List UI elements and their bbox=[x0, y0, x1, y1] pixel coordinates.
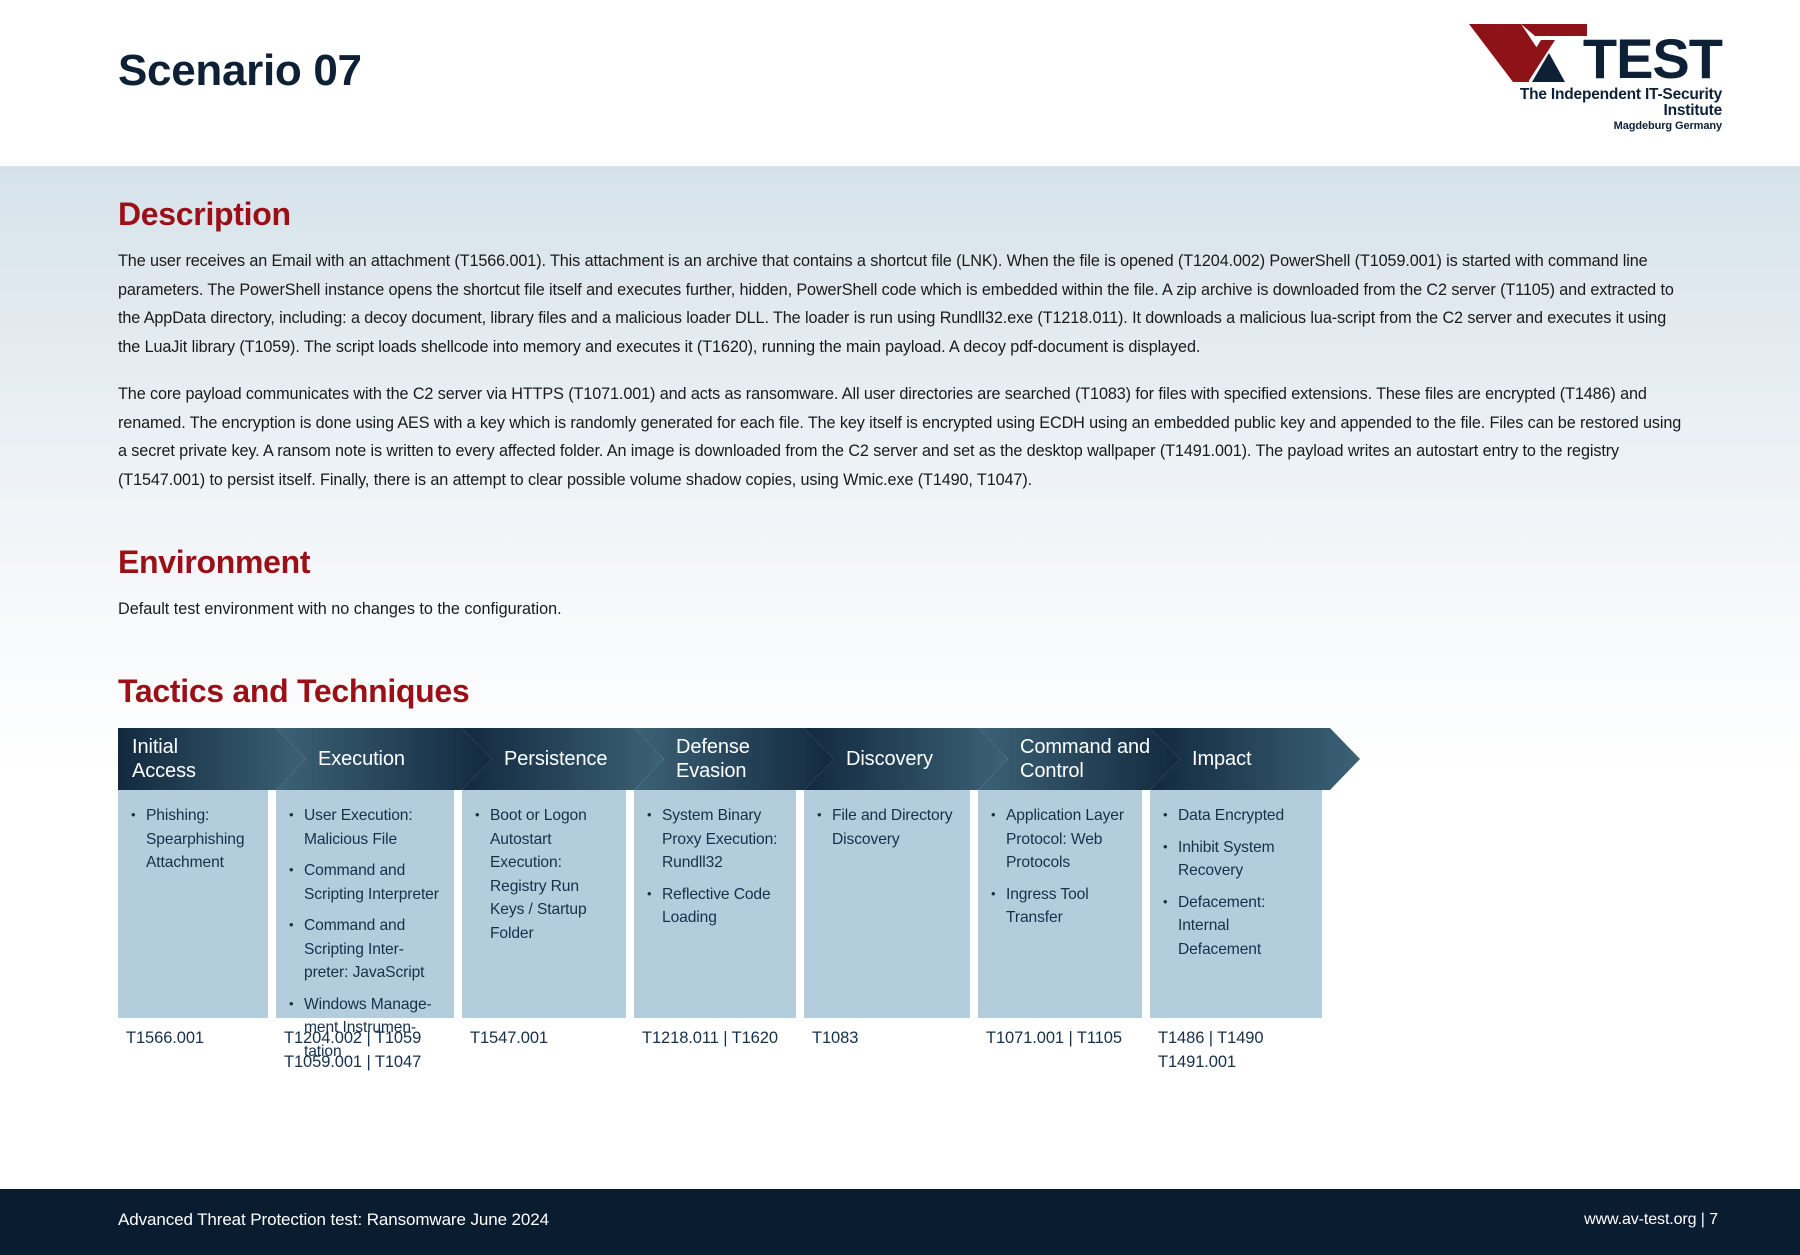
technique-cell-1: Phishing: Spearphishing Attachment bbox=[118, 790, 268, 1018]
technique-list: System Binary Proxy Execution: Rundll32R… bbox=[646, 804, 784, 930]
technique-item: Defacement: Internal Defacement bbox=[1162, 891, 1310, 962]
tactic-chevron-4[interactable]: Defense Evasion bbox=[634, 728, 834, 790]
page-title: Scenario 07 bbox=[118, 46, 362, 96]
description-paragraph-2: The core payload communicates with the C… bbox=[118, 380, 1682, 494]
tactics-and-techniques-table: Initial AccessExecutionPersistenceDefens… bbox=[118, 728, 1518, 1058]
technique-id-3: T1547.001 bbox=[470, 1026, 634, 1050]
technique-id-7: T1486 | T1490 T1491.001 bbox=[1158, 1026, 1330, 1074]
logo-tagline: The Independent IT-Security Institute bbox=[1462, 87, 1722, 118]
description-paragraph-1: The user receives an Email with an attac… bbox=[118, 247, 1682, 361]
logo-wordmark: TEST bbox=[1462, 24, 1722, 82]
technique-item: Application Layer Protocol: Web Protocol… bbox=[990, 804, 1130, 875]
tactic-label: Discovery bbox=[846, 747, 933, 771]
tactic-chevron-3[interactable]: Persistence bbox=[462, 728, 664, 790]
document-page: Scenario 07 TEST The Independent IT-Secu… bbox=[0, 0, 1800, 1255]
tactic-chevron-6[interactable]: Command and Control bbox=[978, 728, 1180, 790]
page-body: Description The user receives an Email w… bbox=[0, 166, 1800, 1189]
technique-id-4: T1218.011 | T1620 bbox=[642, 1026, 804, 1050]
technique-item: User Execution: Malicious File bbox=[288, 804, 442, 851]
description-heading: Description bbox=[118, 196, 1682, 233]
tactic-label: Command and Control bbox=[1020, 735, 1150, 783]
environment-text: Default test environment with no changes… bbox=[118, 595, 1682, 623]
technique-item: File and Directory Discovery bbox=[816, 804, 958, 851]
techniques-row: Phishing: Spearphishing AttachmentUser E… bbox=[118, 790, 1518, 1018]
technique-item: Phishing: Spearphishing Attachment bbox=[130, 804, 256, 875]
technique-id-1: T1566.001 bbox=[126, 1026, 276, 1050]
technique-list: Phishing: Spearphishing Attachment bbox=[130, 804, 256, 875]
technique-item: System Binary Proxy Execution: Rundll32 bbox=[646, 804, 784, 875]
logo-location: Magdeburg Germany bbox=[1462, 121, 1722, 132]
technique-item: Command and Scripting Interpreter bbox=[288, 859, 442, 906]
technique-cell-6: Application Layer Protocol: Web Protocol… bbox=[978, 790, 1142, 1018]
page-header: Scenario 07 TEST The Independent IT-Secu… bbox=[0, 0, 1800, 166]
technique-cell-4: System Binary Proxy Execution: Rundll32R… bbox=[634, 790, 796, 1018]
technique-list: Boot or Logon Autostart Execution: Regis… bbox=[474, 804, 614, 945]
tactic-chevron-7[interactable]: Impact bbox=[1150, 728, 1360, 790]
footer-test-name: Advanced Threat Protection test: Ransomw… bbox=[118, 1210, 549, 1230]
tactic-label: Defense Evasion bbox=[676, 735, 750, 783]
technique-cell-2: User Execution: Malicious FileCommand an… bbox=[276, 790, 454, 1018]
content-column: Description The user receives an Email w… bbox=[0, 166, 1800, 1058]
tactic-label: Execution bbox=[318, 747, 405, 771]
tactic-chevron-1[interactable]: Initial Access bbox=[118, 728, 306, 790]
technique-cell-3: Boot or Logon Autostart Execution: Regis… bbox=[462, 790, 626, 1018]
technique-item: Command and Scripting Inter-preter: Java… bbox=[288, 914, 442, 985]
technique-item: Reflective Code Loading bbox=[646, 883, 784, 930]
technique-ids-row: T1566.001T1204.002 | T1059 T1059.001 | T… bbox=[118, 1018, 1518, 1080]
technique-cell-7: Data EncryptedInhibit System RecoveryDef… bbox=[1150, 790, 1322, 1018]
technique-item: Boot or Logon Autostart Execution: Regis… bbox=[474, 804, 614, 945]
tactics-header-row: Initial AccessExecutionPersistenceDefens… bbox=[118, 728, 1518, 790]
logo-test-text: TEST bbox=[1583, 36, 1722, 82]
technique-list: Data EncryptedInhibit System RecoveryDef… bbox=[1162, 804, 1310, 961]
tactics-heading: Tactics and Techniques bbox=[118, 673, 1682, 710]
tactic-label: Impact bbox=[1192, 747, 1251, 771]
tactic-chevron-2[interactable]: Execution bbox=[276, 728, 492, 790]
footer-url-and-page: www.av-test.org | 7 bbox=[1584, 1211, 1718, 1229]
technique-list: Application Layer Protocol: Web Protocol… bbox=[990, 804, 1130, 930]
technique-item: Inhibit System Recovery bbox=[1162, 836, 1310, 883]
technique-list: File and Directory Discovery bbox=[816, 804, 958, 851]
environment-heading: Environment bbox=[118, 544, 1682, 581]
tactic-label: Persistence bbox=[504, 747, 607, 771]
tactic-chevron-5[interactable]: Discovery bbox=[804, 728, 1008, 790]
technique-id-2: T1204.002 | T1059 T1059.001 | T1047 bbox=[284, 1026, 462, 1074]
technique-id-5: T1083 bbox=[812, 1026, 978, 1050]
page-footer: Advanced Threat Protection test: Ransomw… bbox=[0, 1189, 1800, 1255]
tactic-label: Initial Access bbox=[132, 735, 196, 783]
av-test-logo: TEST The Independent IT-Security Institu… bbox=[1462, 24, 1722, 132]
technique-item: Ingress Tool Transfer bbox=[990, 883, 1130, 930]
technique-item: Data Encrypted bbox=[1162, 804, 1310, 828]
technique-cell-5: File and Directory Discovery bbox=[804, 790, 970, 1018]
technique-id-6: T1071.001 | T1105 bbox=[986, 1026, 1150, 1050]
logo-av-mark bbox=[1469, 24, 1587, 82]
